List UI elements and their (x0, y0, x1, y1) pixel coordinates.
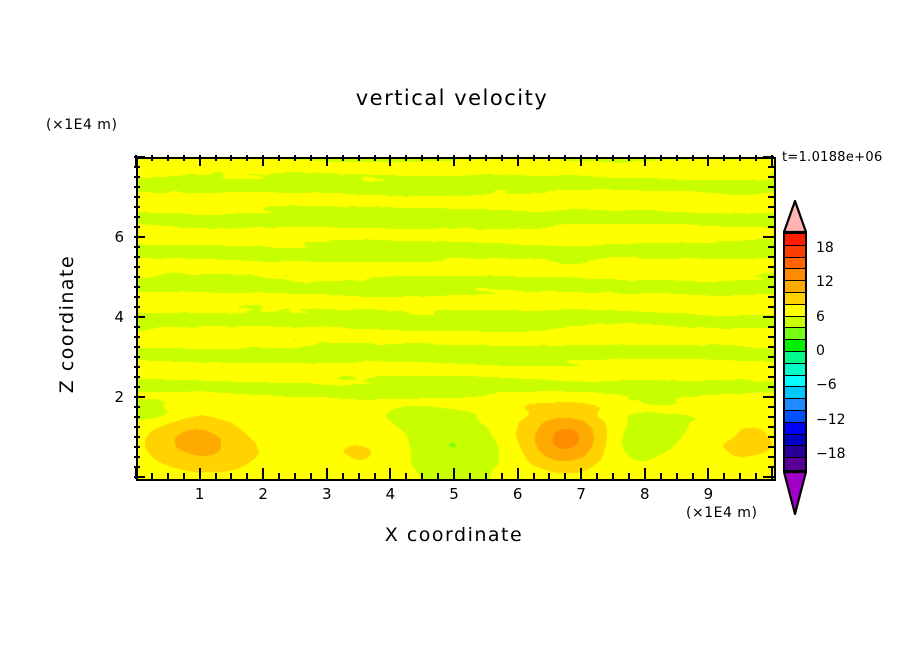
colorbar-band (785, 317, 805, 329)
x-tick (469, 473, 471, 479)
x-tick (294, 473, 296, 479)
y-tick-right (768, 326, 774, 328)
x-tick-top (692, 155, 694, 161)
x-tick (692, 473, 694, 479)
x-tick (389, 468, 391, 479)
x-tick (739, 473, 741, 479)
x-tick (723, 473, 725, 479)
y-tick (134, 306, 140, 308)
x-tick-top (676, 155, 678, 161)
x-tick (310, 473, 312, 479)
y-tick-right (768, 186, 774, 188)
y-tick-right (768, 176, 774, 178)
y-tick (134, 356, 140, 358)
x-tick (644, 468, 646, 479)
colorbar-band (785, 423, 805, 435)
x-tick-top (707, 155, 709, 166)
y-tick (134, 346, 140, 348)
x-tick-top (501, 155, 503, 161)
colorbar-band (785, 399, 805, 411)
y-tick-right (768, 286, 774, 288)
x-tick (596, 473, 598, 479)
y-tick-right (768, 336, 774, 338)
x-tick-top (485, 155, 487, 161)
x-tick (755, 473, 757, 479)
x-tick-top (755, 155, 757, 161)
x-tick (660, 473, 662, 479)
y-tick (134, 216, 140, 218)
y-tick (134, 206, 140, 208)
x-tick (230, 473, 232, 479)
colorbar-over-arrow (783, 200, 807, 233)
x-tick (405, 473, 407, 479)
x-tick (676, 473, 678, 479)
y-tick-right (768, 356, 774, 358)
y-tick-right (763, 476, 774, 478)
x-tick (421, 473, 423, 479)
x-tick (199, 468, 201, 479)
y-tick-right (768, 346, 774, 348)
x-tick-top (342, 155, 344, 161)
y-tick (134, 166, 140, 168)
y-tick-right (768, 206, 774, 208)
y-tick (134, 436, 140, 438)
y-tick (134, 476, 145, 478)
x-tick (533, 473, 535, 479)
x-tick (183, 473, 185, 479)
colorbar-band (785, 411, 805, 423)
contour-field (138, 159, 774, 479)
x-tick-top (437, 155, 439, 161)
colorbar-tick-label: 12 (816, 274, 834, 290)
y-tick-label: 4 (84, 308, 124, 326)
y-tick-right (768, 276, 774, 278)
x-tick (580, 468, 582, 479)
x-tick-top (517, 155, 519, 166)
y-tick-right (768, 446, 774, 448)
y-tick-right (768, 416, 774, 418)
x-tick-label: 6 (498, 485, 538, 503)
x-tick (151, 473, 153, 479)
y-tick (134, 466, 140, 468)
x-tick-top (199, 155, 201, 166)
y-tick-right (768, 376, 774, 378)
x-tick-label: 5 (434, 485, 474, 503)
colorbar-band (785, 234, 805, 246)
y-tick-right (768, 466, 774, 468)
y-tick-right (763, 236, 774, 238)
colorbar-tick-label: 6 (816, 309, 825, 325)
x-tick-top (421, 155, 423, 161)
y-tick (134, 366, 140, 368)
x-tick (707, 468, 709, 479)
colorbar-band (785, 435, 805, 447)
y-tick (134, 386, 140, 388)
y-tick-right (763, 156, 774, 158)
x-axis-unit-label: (×1E4 m) (686, 505, 757, 521)
colorbar[interactable] (783, 232, 807, 472)
x-tick-top (548, 155, 550, 161)
colorbar-band (785, 446, 805, 458)
y-tick (134, 266, 140, 268)
y-tick (134, 156, 145, 158)
x-tick-top (469, 155, 471, 161)
colorbar-band (785, 269, 805, 281)
x-tick-top (644, 155, 646, 166)
y-tick-right (768, 246, 774, 248)
y-tick-right (768, 216, 774, 218)
y-tick (134, 176, 140, 178)
y-tick-right (763, 316, 774, 318)
x-tick-top (405, 155, 407, 161)
y-tick-right (768, 166, 774, 168)
y-tick (134, 456, 140, 458)
y-tick (134, 256, 140, 258)
x-tick (262, 468, 264, 479)
colorbar-tick-label: −6 (816, 377, 837, 393)
y-tick-right (768, 406, 774, 408)
y-tick-right (768, 426, 774, 428)
x-tick-top (294, 155, 296, 161)
y-tick (134, 276, 140, 278)
x-tick-top (739, 155, 741, 161)
x-tick-top (612, 155, 614, 161)
y-tick (134, 296, 140, 298)
y-tick-right (768, 296, 774, 298)
x-tick-top (326, 155, 328, 166)
colorbar-band (785, 281, 805, 293)
x-tick (246, 473, 248, 479)
y-tick-label: 2 (84, 388, 124, 406)
x-tick-top (389, 155, 391, 166)
x-tick-label: 4 (370, 485, 410, 503)
y-tick-right (768, 366, 774, 368)
colorbar-band (785, 340, 805, 352)
y-tick-right (768, 256, 774, 258)
x-tick-top (246, 155, 248, 161)
x-tick-top (660, 155, 662, 161)
colorbar-tick-label: 0 (816, 343, 825, 359)
colorbar-tick-label: −18 (816, 446, 846, 462)
x-tick (358, 473, 360, 479)
y-axis-title: Z coordinate (56, 224, 78, 424)
x-tick-label: 2 (243, 485, 283, 503)
colorbar-band (785, 246, 805, 258)
x-tick (612, 473, 614, 479)
x-tick-label: 8 (625, 485, 665, 503)
y-tick-right (768, 436, 774, 438)
x-tick-top (183, 155, 185, 161)
x-tick (501, 473, 503, 479)
x-tick-label: 3 (307, 485, 347, 503)
colorbar-band (785, 352, 805, 364)
y-tick-label: 6 (84, 228, 124, 246)
y-tick (134, 286, 140, 288)
y-tick-right (768, 386, 774, 388)
colorbar-band (785, 305, 805, 317)
x-tick-top (310, 155, 312, 161)
x-tick-top (230, 155, 232, 161)
x-tick (628, 473, 630, 479)
y-tick (134, 446, 140, 448)
y-tick-right (768, 226, 774, 228)
y-tick (134, 396, 145, 398)
y-tick-right (763, 396, 774, 398)
x-tick (167, 473, 169, 479)
x-tick-top (151, 155, 153, 161)
colorbar-band (785, 258, 805, 270)
x-tick (485, 473, 487, 479)
y-tick (134, 416, 140, 418)
x-tick (548, 473, 550, 479)
y-tick (134, 376, 140, 378)
x-tick (215, 473, 217, 479)
x-tick-top (167, 155, 169, 161)
y-tick-right (768, 306, 774, 308)
y-tick (134, 196, 140, 198)
x-tick-top (533, 155, 535, 161)
x-tick-top (723, 155, 725, 161)
x-tick-top (262, 155, 264, 166)
y-tick-right (768, 456, 774, 458)
x-tick-top (628, 155, 630, 161)
x-tick (342, 473, 344, 479)
x-tick-top (215, 155, 217, 161)
colorbar-band (785, 387, 805, 399)
x-tick-top (358, 155, 360, 161)
y-tick (134, 336, 140, 338)
colorbar-tick-label: −12 (816, 412, 846, 428)
colorbar-band (785, 458, 805, 470)
x-tick-top (374, 155, 376, 161)
x-tick (374, 473, 376, 479)
y-tick (134, 316, 145, 318)
x-tick-label: 1 (180, 485, 220, 503)
x-tick-label: 9 (688, 485, 728, 503)
y-tick (134, 246, 140, 248)
y-tick-right (768, 266, 774, 268)
x-tick (278, 473, 280, 479)
colorbar-under-arrow (783, 471, 807, 515)
colorbar-band (785, 376, 805, 388)
x-tick-top (564, 155, 566, 161)
y-tick (134, 226, 140, 228)
y-tick (134, 236, 145, 238)
colorbar-band (785, 293, 805, 305)
x-tick (437, 473, 439, 479)
y-axis-unit-label: (×1E4 m) (46, 117, 117, 133)
x-tick-top (580, 155, 582, 166)
timestamp-annotation: t=1.0188e+06 (782, 150, 883, 165)
y-tick-right (768, 196, 774, 198)
colorbar-band (785, 364, 805, 376)
y-tick (134, 406, 140, 408)
x-tick-label: 7 (561, 485, 601, 503)
x-tick (564, 473, 566, 479)
colorbar-band (785, 328, 805, 340)
x-axis-title: X coordinate (136, 524, 772, 546)
x-tick-top (453, 155, 455, 166)
y-tick (134, 426, 140, 428)
y-tick (134, 326, 140, 328)
contour-plot-area (136, 157, 776, 481)
y-tick (134, 186, 140, 188)
x-tick (517, 468, 519, 479)
x-tick (326, 468, 328, 479)
page-title: vertical velocity (0, 86, 904, 110)
x-tick-top (278, 155, 280, 161)
x-tick-top (596, 155, 598, 161)
x-tick (453, 468, 455, 479)
colorbar-tick-label: 18 (816, 240, 834, 256)
